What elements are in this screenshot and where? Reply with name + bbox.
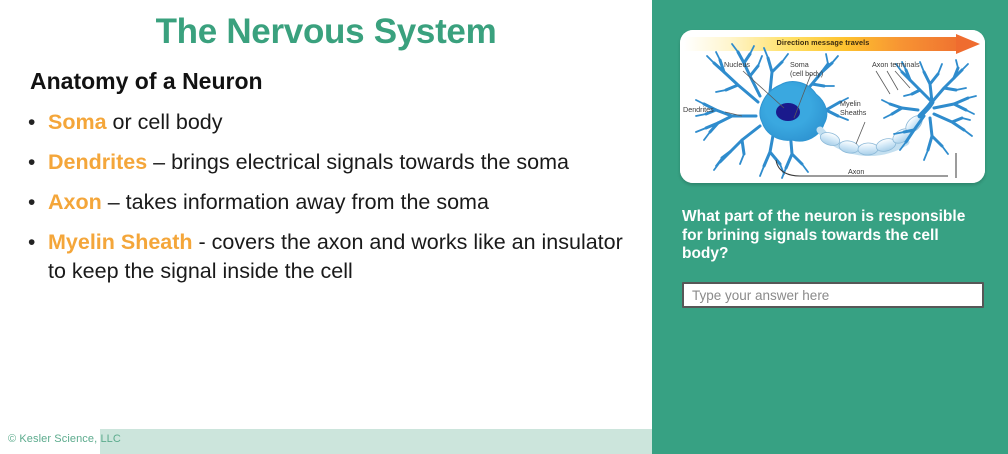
list-item-body: – brings electrical signals towards the … [147,150,569,174]
list-item: • Soma or cell body [28,108,628,137]
bullet-point-icon: • [28,228,48,257]
question-pane: Direction message travels [652,0,1008,454]
diagram-label-myelin-sheaths: Myelin Sheaths [840,100,866,117]
bullet-point-icon: • [28,188,48,217]
list-item: • Axon – takes information away from the… [28,188,628,217]
neuron-diagram: Direction message travels [680,30,985,183]
list-item-text: Axon – takes information away from the s… [48,188,628,217]
footer: © Kesler Science, LLC [0,427,652,454]
list-item-keyword: Myelin Sheath [48,230,193,254]
list-item: • Myelin Sheath - covers the axon and wo… [28,228,628,286]
list-item-body: or cell body [107,110,223,134]
bullet-list: • Soma or cell body • Dendrites – brings… [28,108,628,297]
bullet-point-icon: • [28,108,48,137]
list-item-text: Soma or cell body [48,108,628,137]
list-item-text: Dendrites – brings electrical signals to… [48,148,628,177]
diagram-label-soma: Soma (cell body) [790,61,823,78]
question-prompt: What part of the neuron is responsible f… [682,208,982,264]
list-item-body: – takes information away from the soma [102,190,489,214]
list-item-keyword: Soma [48,110,107,134]
diagram-label-dendrites: Dendrites [683,106,714,115]
diagram-label-axon: Axon [848,168,864,177]
section-heading: Anatomy of a Neuron [30,68,263,95]
list-item-keyword: Axon [48,190,102,214]
content-pane: The Nervous System Anatomy of a Neuron •… [0,0,652,454]
neuron-illustration-icon [680,30,985,183]
answer-input[interactable] [682,282,984,308]
copyright-text: © Kesler Science, LLC [8,433,121,445]
slide-canvas: The Nervous System Anatomy of a Neuron •… [0,0,1008,454]
list-item-keyword: Dendrites [48,150,147,174]
diagram-label-axon-terminals: Axon terminals [872,61,920,70]
footer-accent-bar [100,429,652,454]
bullet-point-icon: • [28,148,48,177]
neuron-diagram-card: Direction message travels [680,30,985,183]
list-item-text: Myelin Sheath - covers the axon and work… [48,228,628,286]
list-item: • Dendrites – brings electrical signals … [28,148,628,177]
page-title: The Nervous System [0,14,652,51]
diagram-label-nucleus: Nucleus [724,61,750,70]
